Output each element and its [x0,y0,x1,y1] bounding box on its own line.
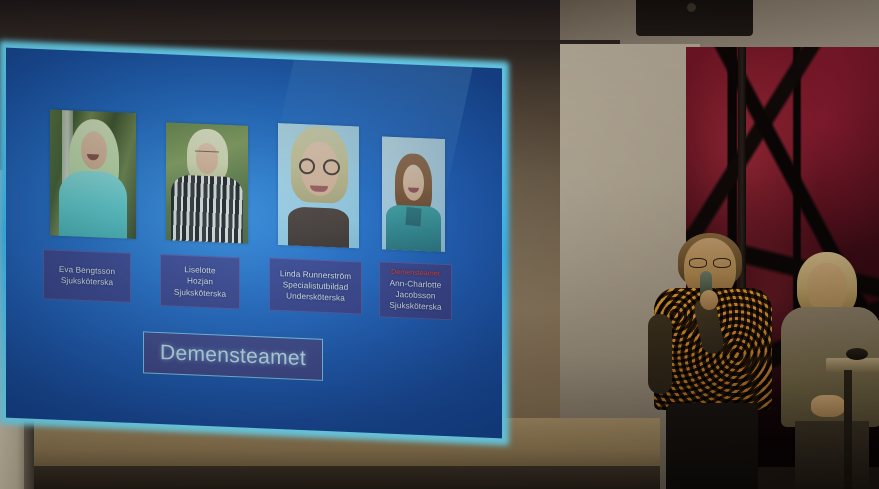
member-photo-row [46,97,466,253]
side-table [826,358,879,372]
member-role-line: Sjuksköterska [389,300,441,314]
slide-title-box: Demensteamet [143,331,323,381]
member-name-boxes: Eva Bengtsson Sjuksköterska Liselotte Ho… [6,244,502,327]
presenter-left-arm [648,314,672,394]
presenter-head [807,263,847,313]
slide-title: Demensteamet [160,341,306,371]
table-leg [844,370,852,489]
member-photo [166,122,248,243]
presenter-legs [795,421,869,489]
member-role-line: Sjuksköterska [61,275,113,289]
presenter-hands [811,395,845,417]
ceiling-projector-icon [636,0,753,36]
presenter-hand [700,290,718,310]
projection-screen: Eva Bengtsson Sjuksköterska Liselotte Ho… [6,48,502,439]
screen-surface: Eva Bengtsson Sjuksköterska Liselotte Ho… [6,48,502,439]
slide: Eva Bengtsson Sjuksköterska Liselotte Ho… [6,48,502,439]
member-role-line: Undersköterska [286,291,345,305]
presenter-with-microphone [648,238,776,489]
member-role-line: Sjuksköterska [174,286,226,300]
presenter-glasses-icon [689,258,731,268]
member-photo [382,136,445,252]
member-photo [278,123,359,248]
table-object [846,348,868,360]
presenter-legs [666,403,758,489]
member-name-box: Eva Bengtsson Sjuksköterska [43,249,131,303]
room-scene: Eva Bengtsson Sjuksköterska Liselotte Ho… [0,0,879,489]
member-photo [50,109,136,239]
member-name-box: Liselotte Hozjan Sjuksköterska [160,254,240,309]
member-name-box: Linda Runnerström Specialistutbildad Und… [269,258,362,315]
presenter-second [779,255,879,489]
baseboard [0,466,660,489]
member-name-box: Demensteamet Ann-Charlotte Jacobsson Sju… [379,261,452,320]
